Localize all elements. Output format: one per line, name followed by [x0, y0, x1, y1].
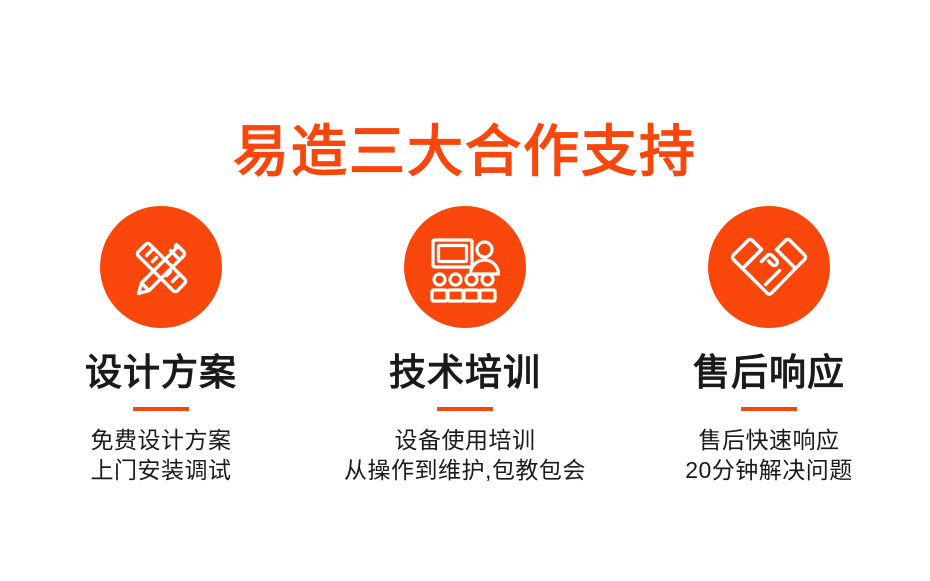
- column-heading-training: 技术培训: [389, 352, 541, 394]
- column-description-training: 设备使用培训 从操作到维护,包教包会: [344, 425, 586, 485]
- icon-circle-training: [404, 206, 526, 328]
- description-line: 20分钟解决问题: [685, 455, 853, 485]
- handshake-icon: [730, 228, 808, 306]
- feature-column-aftersales: 售后响应 售后快速响应 20分钟解决问题: [617, 206, 921, 485]
- training-presentation-icon: [427, 229, 503, 305]
- feature-column-training: 技术培训 设备使用培训 从操作到维护,包教包会: [313, 206, 617, 485]
- heading-divider: [741, 407, 797, 411]
- promo-banner: 易造三大合作支持: [0, 0, 930, 581]
- feature-column-design: 设计方案 免费设计方案 上门安装调试: [9, 206, 313, 485]
- column-heading-aftersales: 售后响应: [693, 352, 845, 394]
- description-line: 从操作到维护,包教包会: [344, 455, 586, 485]
- pencil-ruler-icon: [124, 230, 198, 304]
- description-line: 免费设计方案: [91, 425, 232, 455]
- description-line: 售后快速响应: [685, 425, 853, 455]
- heading-divider: [437, 407, 493, 411]
- feature-columns: 设计方案 免费设计方案 上门安装调试: [0, 206, 930, 485]
- description-line: 上门安装调试: [91, 455, 232, 485]
- column-heading-design: 设计方案: [85, 352, 237, 394]
- page-title: 易造三大合作支持: [0, 120, 930, 184]
- icon-circle-aftersales: [708, 206, 830, 328]
- column-description-aftersales: 售后快速响应 20分钟解决问题: [685, 425, 853, 485]
- heading-divider: [133, 407, 189, 411]
- column-description-design: 免费设计方案 上门安装调试: [91, 425, 232, 485]
- description-line: 设备使用培训: [344, 425, 586, 455]
- icon-circle-design: [100, 206, 222, 328]
